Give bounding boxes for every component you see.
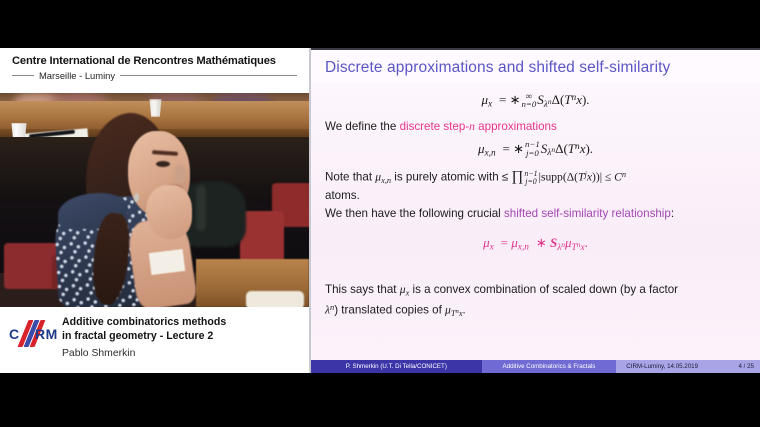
paper-sheet xyxy=(246,291,304,307)
letterbox-bar-bottom xyxy=(0,373,760,427)
paragraph-4-tail: ) translated copies of xyxy=(334,303,445,316)
video-still[interactable] xyxy=(0,93,309,307)
footline-venue-date-group: CIRM-Luminy, 14.05.2019 4 / 25 xyxy=(616,360,760,373)
backpack-strap xyxy=(196,185,206,231)
camera-panel: Centre International de Rencontres Mathé… xyxy=(0,48,309,373)
institution-subtitle-row: Marseille - Luminy xyxy=(12,70,297,81)
slide-title: Discrete approximations and shifted self… xyxy=(311,50,760,83)
paragraph-crucial-relationship: We then have the following crucial shift… xyxy=(325,206,748,221)
institution-title: Centre International de Rencontres Mathé… xyxy=(12,55,297,67)
paragraph-4-mid: is a convex combination of scaled down (… xyxy=(409,283,678,296)
content-band: Centre International de Rencontres Mathé… xyxy=(0,48,760,373)
footline-short-title: Additive Combinatorics & Fractals xyxy=(482,360,617,373)
talk-title-line-2: in fractal geometry - Lecture 2 xyxy=(62,330,226,344)
slide-footline: P. Shmerkin (U.T. Di Tella/CONICET) Addi… xyxy=(311,360,760,373)
slide-body: μx = ∗∞n=0SλnΔ(Tnx). We define the discr… xyxy=(311,83,760,360)
attendee-nose xyxy=(174,165,186,183)
paragraph-define-approximations: We define the discrete step-n approximat… xyxy=(325,119,748,134)
cirm-branding-header: Centre International de Rencontres Mathé… xyxy=(0,48,309,93)
equation-mu-x-infinite-convolution: μx = ∗∞n=0SλnΔ(Tnx). xyxy=(323,91,748,113)
auditorium-seat xyxy=(240,211,284,263)
footline-venue-date: CIRM-Luminy, 14.05.2019 xyxy=(626,363,698,370)
talk-title: Additive combinatorics methods in fracta… xyxy=(62,316,226,343)
letterbox-bar-top xyxy=(0,0,760,48)
paragraph-2-lead: Note that xyxy=(325,171,375,184)
paragraph-4-lead: This says that xyxy=(325,283,400,296)
highlight-shifted-self-similarity: shifted self-similarity relationship xyxy=(504,207,671,220)
attendee-eye xyxy=(156,161,170,167)
paragraph-3-colon: : xyxy=(671,207,674,220)
paragraph-3-lead: We then have the following crucial xyxy=(325,207,504,220)
attendee-earring xyxy=(134,193,139,202)
footline-page-number: 4 / 25 xyxy=(738,360,753,373)
presentation-slide[interactable]: Discrete approximations and shifted self… xyxy=(309,48,760,373)
auditorium-seat xyxy=(4,243,58,289)
talk-text: Additive combinatorics methods in fracta… xyxy=(62,315,226,359)
equation-mu-x-n-finite-convolution: μx,n = ∗n−1j=0SλnΔ(Tnx). xyxy=(323,140,748,162)
cirm-logo-letters-rm: RM xyxy=(35,326,58,342)
paragraph-purely-atomic: Note that μx,n is purely atomic with ≤ ∏… xyxy=(325,167,748,203)
paragraph-convex-combination: This says that μx is a convex combinatio… xyxy=(325,282,748,321)
attendee-hand xyxy=(146,185,192,239)
talk-info-block: C RM Additive combinatorics methods in f… xyxy=(0,307,309,373)
talk-title-line-1: Additive combinatorics methods xyxy=(62,316,226,330)
footline-author: P. Shmerkin (U.T. Di Tella/CONICET) xyxy=(311,360,482,373)
rule-right xyxy=(120,75,297,76)
name-badge xyxy=(149,249,185,275)
equation-shifted-self-similarity: μx = μx,n ∗ SλnμTnx. xyxy=(323,235,748,256)
paragraph-4-line-2: λn) translated copies of μTnx. xyxy=(325,300,748,321)
highlight-discrete-step-n: discrete step-n approximations xyxy=(400,120,557,133)
paragraph-2-mid: is purely atomic with ≤ xyxy=(391,171,511,184)
speaker-name: Pablo Shmerkin xyxy=(62,348,226,359)
institution-subtitle: Marseille - Luminy xyxy=(39,70,115,81)
screen-recording-frame: Centre International de Rencontres Mathé… xyxy=(0,0,760,427)
paragraph-2-line-2: atoms. xyxy=(325,188,748,203)
cirm-logo-letter-c: C xyxy=(9,326,20,342)
rule-left xyxy=(12,75,34,76)
cirm-logo-icon: C RM xyxy=(9,319,53,349)
paragraph-1-lead: We define the xyxy=(325,120,400,133)
